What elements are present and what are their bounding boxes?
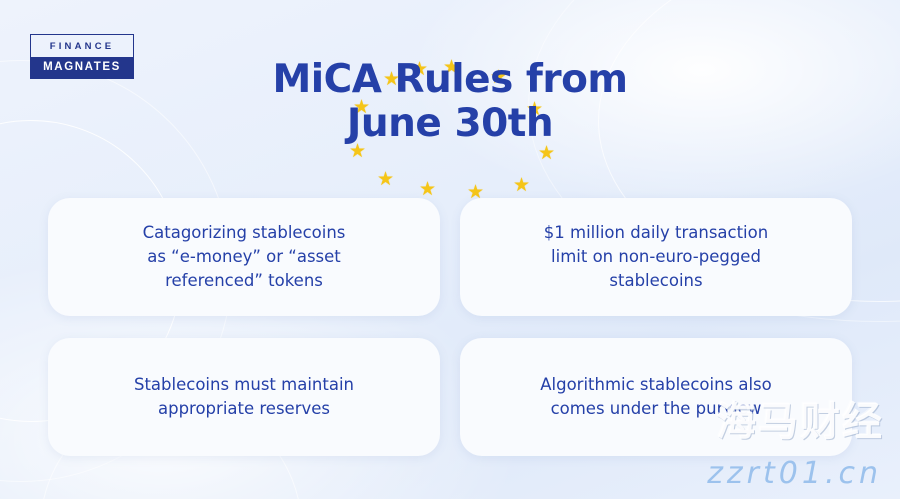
watermark-url: zzrt01.cn [707, 456, 882, 491]
star-icon: ★ [538, 144, 555, 163]
title-block: ★ ★ ★ ★ ★ ★ ★ ★ ★ ★ ★ ★ MiCA Rules from … [0, 58, 900, 145]
rule-card: Catagorizing stablecoins as “e-money” or… [48, 198, 440, 316]
star-icon: ★ [419, 180, 436, 199]
page-title-line-2: June 30th [0, 102, 900, 146]
star-icon: ★ [513, 176, 530, 195]
rule-card-text: Catagorizing stablecoins as “e-money” or… [143, 221, 346, 293]
page-title: MiCA Rules from June 30th [0, 58, 900, 145]
logo-line-finance: FINANCE [31, 41, 133, 57]
rule-card-text: Stablecoins must maintain appropriate re… [134, 373, 354, 421]
watermark-chinese: 海马财经 [716, 389, 884, 447]
page-title-line-1: MiCA Rules from [272, 57, 627, 102]
rule-card: Stablecoins must maintain appropriate re… [48, 338, 440, 456]
rule-card-text: $1 million daily transaction limit on no… [544, 221, 768, 293]
rule-card: $1 million daily transaction limit on no… [460, 198, 852, 316]
star-icon: ★ [377, 170, 394, 189]
slide-canvas: FINANCE MAGNATES ★ ★ ★ ★ ★ ★ ★ ★ ★ ★ ★ ★… [0, 0, 900, 499]
